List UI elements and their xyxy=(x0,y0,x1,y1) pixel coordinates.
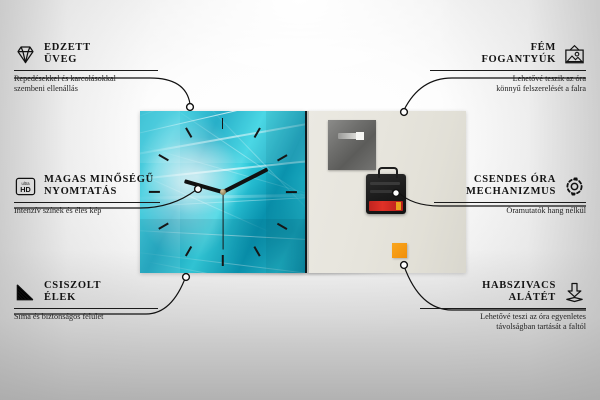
feature-desc-1: Repedésekkel és karcolásokkal xyxy=(14,74,158,84)
connector-node-tempered-glass xyxy=(187,104,194,111)
feature-metal-hangers: FÉM FOGANTYÚK Lehetővé teszik az óra kön… xyxy=(430,42,586,94)
picture-hanger-icon xyxy=(563,43,586,66)
beveled-edge-icon xyxy=(14,281,37,304)
connector-node-polished-edges xyxy=(183,274,190,281)
feature-rule xyxy=(434,202,586,203)
feature-desc-2: szembeni ellenállás xyxy=(14,84,158,94)
feature-desc-2: könnyű felszerelését a falra xyxy=(430,84,586,94)
connector-node-metal-hangers xyxy=(401,109,408,116)
infographic-canvas: EDZETT ÜVEG Repedésekkel és karcolásokka… xyxy=(0,0,600,400)
feature-desc-1: Lehetővé teszi az óra egyenletes xyxy=(420,312,586,322)
feature-title-2: ÜVEG xyxy=(44,54,91,66)
feature-title: EDZETT xyxy=(44,42,91,54)
feature-title: HABSZIVACS xyxy=(482,280,556,292)
feature-title-2: NYOMTATÁS xyxy=(44,186,154,198)
feature-title-2: FOGANTYÚK xyxy=(481,54,556,66)
feature-polished-edges: CSISZOLT ÉLEK Sima és biztonságos felüle… xyxy=(14,280,158,322)
feature-rule xyxy=(430,70,586,71)
feature-high-quality-print: ultra HD MAGAS MINŐSÉGŰ NYOMTATÁS Intenz… xyxy=(14,174,160,216)
gear-icon xyxy=(563,175,586,198)
feature-title-2: MECHANIZMUS xyxy=(466,186,556,198)
feature-title: MAGAS MINŐSÉGŰ xyxy=(44,174,154,186)
connector-node-foam-pad xyxy=(401,262,408,269)
foam-pad-arrow-icon xyxy=(563,281,586,304)
feature-silent-clock-mechanism: CSENDES ÓRA MECHANIZMUS Óramutatók hang … xyxy=(434,174,586,216)
feature-foam-pad: HABSZIVACS ALÁTÉT Lehetővé teszi az óra … xyxy=(420,280,586,332)
feature-rule xyxy=(420,308,586,309)
feature-tempered-glass: EDZETT ÜVEG Repedésekkel és karcolásokka… xyxy=(14,42,158,94)
ultra-hd-badge-icon: ultra HD xyxy=(14,175,37,198)
feature-desc-1: Lehetővé teszik az óra xyxy=(430,74,586,84)
diamond-icon xyxy=(14,43,37,66)
feature-desc-1: Sima és biztonságos felület xyxy=(14,312,158,322)
svg-text:HD: HD xyxy=(20,185,31,194)
connector-node-high-quality-print xyxy=(195,186,202,193)
feature-title-2: ÉLEK xyxy=(44,292,101,304)
feature-desc-2: távolságban tartását a faltól xyxy=(420,322,586,332)
feature-rule xyxy=(14,308,158,309)
feature-desc-1: Intenzív színek és éles kép xyxy=(14,206,160,216)
feature-title-2: ALÁTÉT xyxy=(482,292,556,304)
feature-title: CSENDES ÓRA xyxy=(466,174,556,186)
feature-rule xyxy=(14,202,160,203)
feature-title: FÉM xyxy=(481,42,556,54)
feature-title: CSISZOLT xyxy=(44,280,101,292)
feature-rule xyxy=(14,70,158,71)
feature-desc-1: Óramutatók hang nélkül xyxy=(434,206,586,216)
connector-node-silent-mechanism xyxy=(393,190,400,197)
